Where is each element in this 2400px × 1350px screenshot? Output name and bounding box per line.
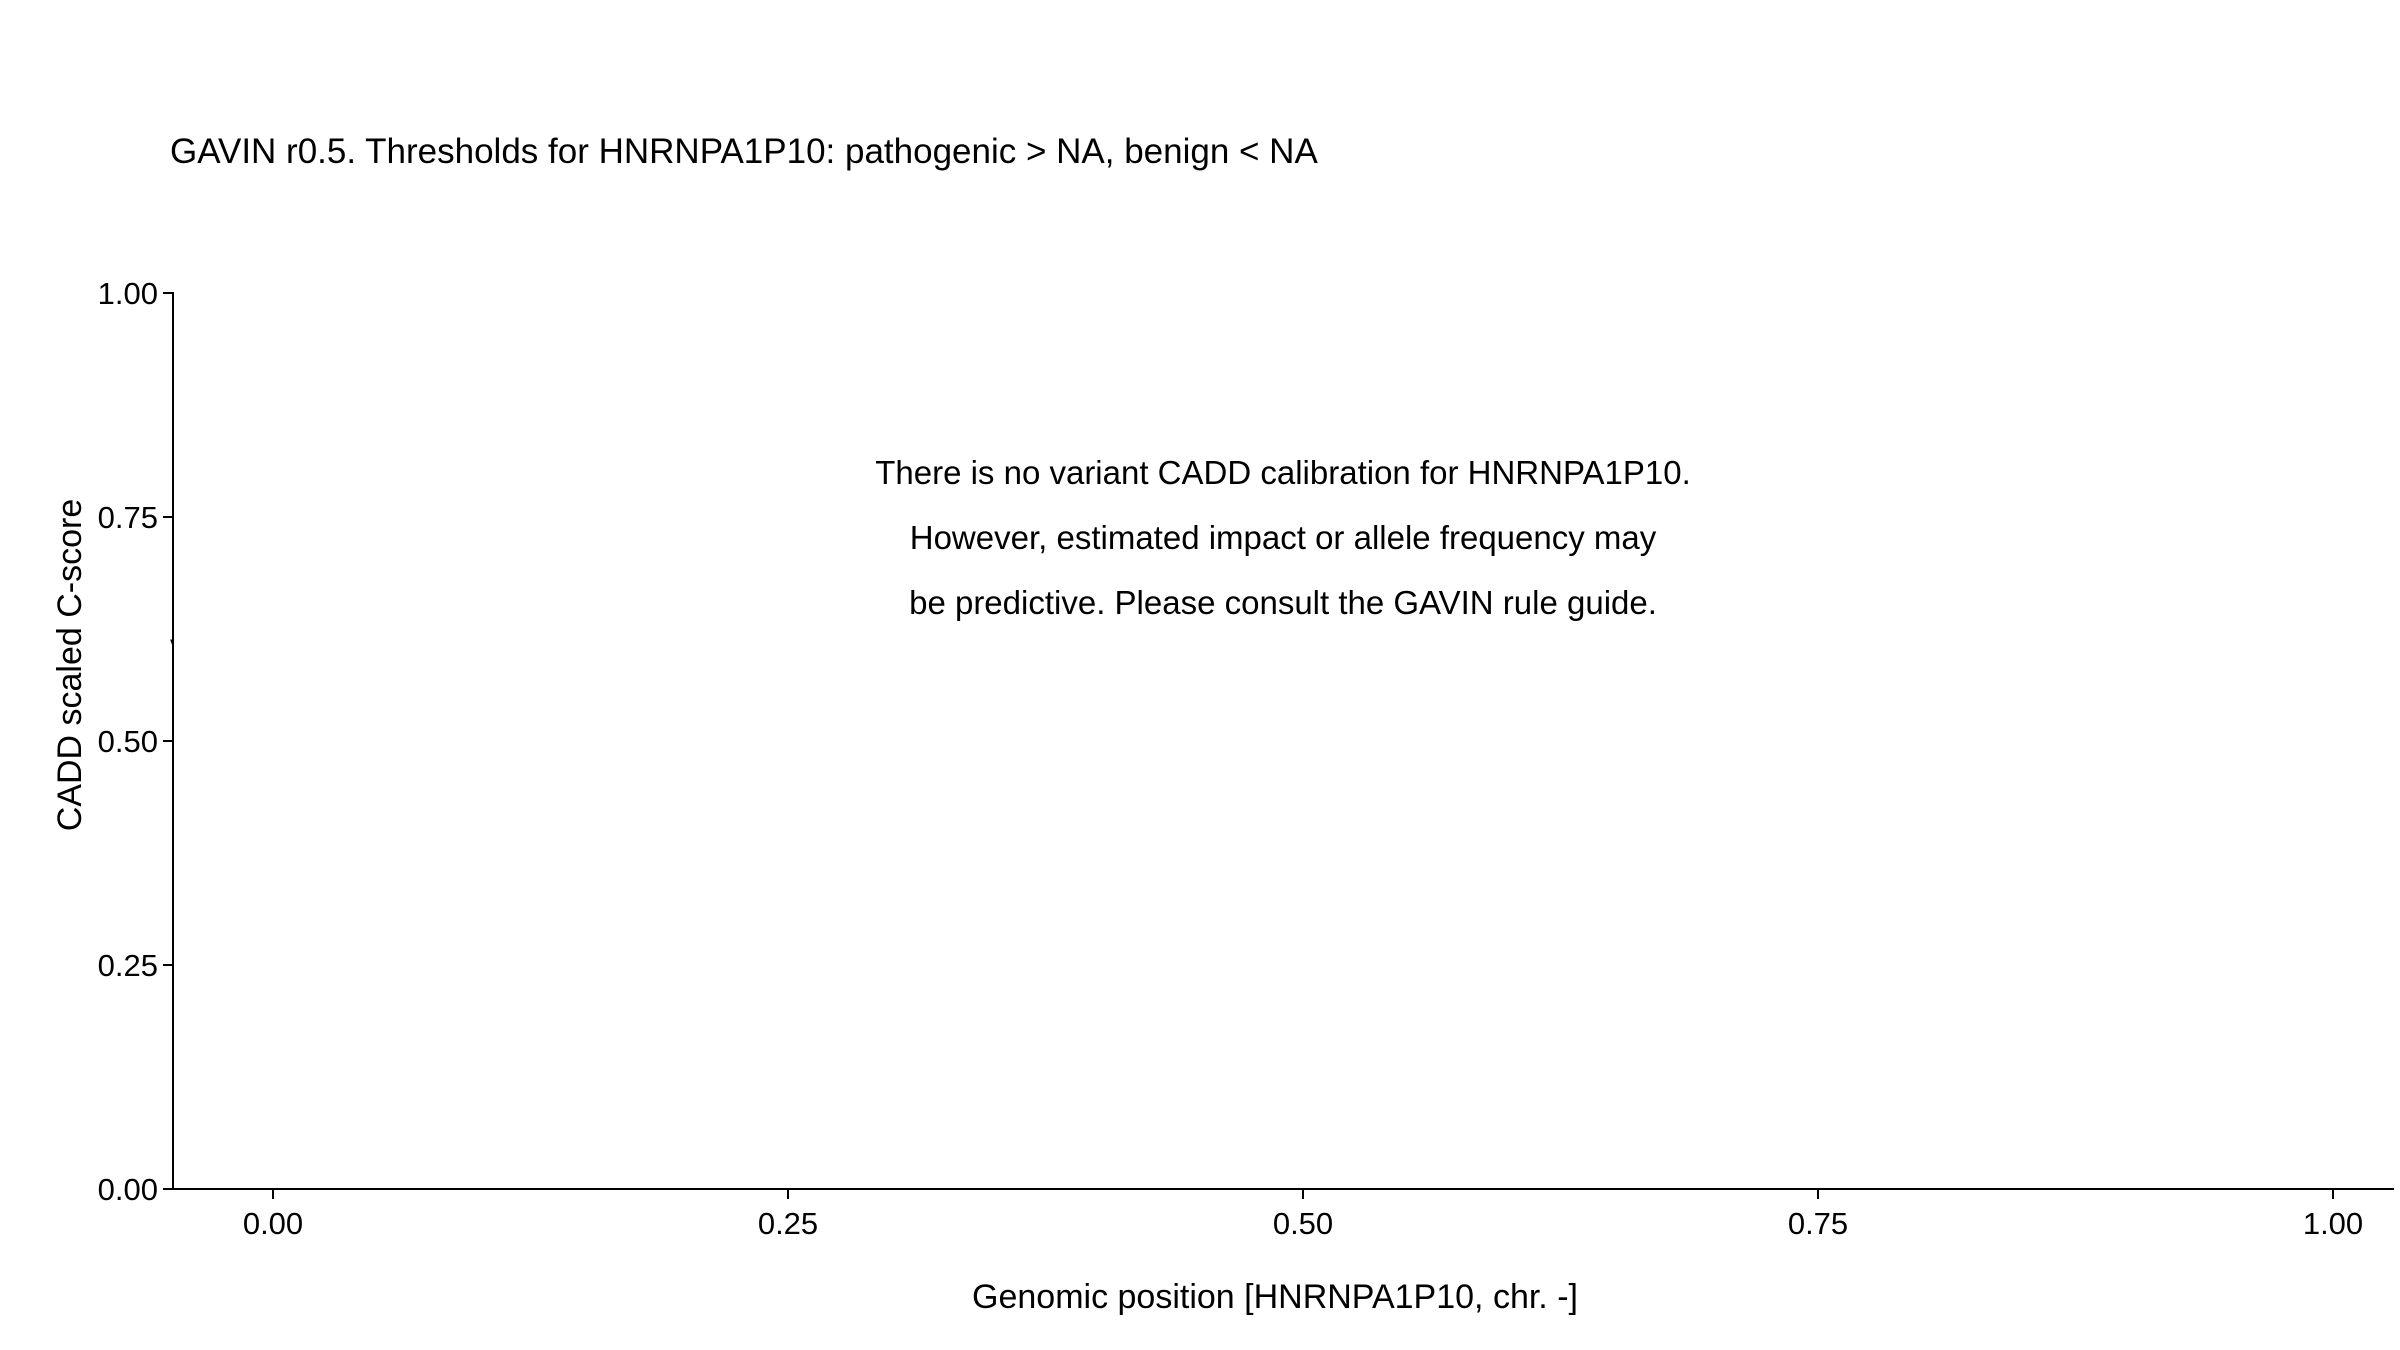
x-tick-label: 0.50 bbox=[1233, 1208, 1373, 1239]
annotation-line-2: However, estimated impact or allele freq… bbox=[172, 505, 2394, 570]
y-tick-label: 0.00 bbox=[68, 1174, 158, 1205]
x-tick-label: 0.75 bbox=[1748, 1208, 1888, 1239]
y-axis-line bbox=[172, 292, 174, 1190]
annotation-line-3: be predictive. Please consult the GAVIN … bbox=[172, 570, 2394, 635]
x-axis-title: Genomic position [HNRNPA1P10, chr. -] bbox=[170, 1275, 2380, 1319]
x-tick-mark bbox=[787, 1190, 789, 1199]
x-tick-mark bbox=[2332, 1190, 2334, 1199]
x-tick-mark bbox=[1817, 1190, 1819, 1199]
y-tick-mark bbox=[163, 516, 172, 518]
y-tick-label: 1.00 bbox=[68, 278, 158, 309]
y-axis-tick-labels: 0.00 0.25 0.50 0.75 1.00 bbox=[68, 292, 158, 1190]
x-tick-label: 0.25 bbox=[718, 1208, 858, 1239]
y-tick-label: 0.25 bbox=[68, 950, 158, 981]
x-axis-line bbox=[172, 1188, 2394, 1190]
y-tick-label: 0.75 bbox=[68, 502, 158, 533]
y-tick-label: 0.50 bbox=[68, 726, 158, 757]
x-tick-mark bbox=[1302, 1190, 1304, 1199]
plot-canvas: GAVIN r0.5. Thresholds for HNRNPA1P10: p… bbox=[0, 0, 2400, 1350]
y-tick-mark bbox=[163, 740, 172, 742]
x-tick-mark bbox=[272, 1190, 274, 1199]
no-calibration-annotation: There is no variant CADD calibration for… bbox=[172, 440, 2394, 635]
plot-panel: There is no variant CADD calibration for… bbox=[172, 292, 2394, 1190]
x-axis-tick-labels: 0.00 0.25 0.50 0.75 1.00 bbox=[172, 1208, 2394, 1248]
x-tick-label: 0.00 bbox=[203, 1208, 343, 1239]
y-tick-mark bbox=[163, 964, 172, 966]
y-tick-mark bbox=[163, 292, 172, 294]
chart-title-line-1: GAVIN r0.5. Thresholds for HNRNPA1P10: p… bbox=[170, 124, 2370, 179]
x-tick-label: 1.00 bbox=[2263, 1208, 2400, 1239]
y-tick-mark bbox=[163, 1188, 172, 1190]
annotation-line-1: There is no variant CADD calibration for… bbox=[172, 440, 2394, 505]
